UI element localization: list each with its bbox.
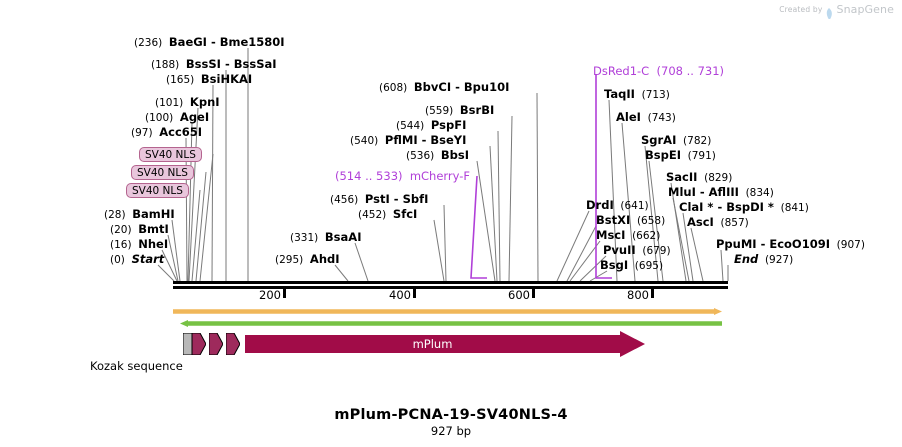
enzyme-name-alt: BseYI — [430, 133, 466, 147]
enzyme-name: BmtI — [138, 222, 169, 236]
enzyme-position: (544) — [396, 120, 431, 132]
enzyme-name-alt: BspDI * — [726, 200, 774, 214]
enzyme-name-separator: - — [390, 192, 403, 206]
kozak-sequence-label: Kozak sequence — [90, 359, 183, 373]
primer-label[interactable]: DsRed1-C (708 .. 731) — [593, 65, 724, 77]
enzyme-name: Acc65I — [159, 125, 202, 139]
reverse-primer-arrow[interactable] — [180, 320, 722, 327]
sv40-nls-pill[interactable]: SV40 NLS — [126, 183, 189, 198]
enzyme-label[interactable]: (331) BsaAI — [290, 231, 361, 244]
enzyme-label[interactable]: (236) BaeGI - Bme1580I — [134, 36, 285, 49]
enzyme-label[interactable]: PvuII (679) — [603, 244, 671, 257]
enzyme-label[interactable]: (456) PstI - SbfI — [330, 193, 428, 206]
enzyme-position: (841) — [774, 202, 809, 214]
enzyme-name-separator: - — [696, 185, 709, 199]
enzyme-name: AgeI — [180, 110, 209, 124]
enzyme-label[interactable]: BsgI (695) — [600, 259, 663, 272]
enzyme-label[interactable]: SacII (829) — [666, 171, 732, 184]
enzyme-position: (713) — [635, 89, 670, 101]
enzyme-position: (16) — [110, 239, 138, 251]
enzyme-name: Start — [132, 252, 165, 266]
forward-primer-arrow[interactable] — [173, 308, 722, 315]
enzyme-label[interactable]: (536) BbsI — [406, 149, 469, 162]
enzyme-name-alt: AflIII — [709, 185, 739, 199]
primer-range: (708 .. 731) — [657, 64, 725, 78]
enzyme-position: (857) — [714, 217, 749, 229]
ruler-tick-label: 800 — [627, 288, 651, 302]
enzyme-name: KpnI — [190, 95, 220, 109]
enzyme-label[interactable]: TaqII (713) — [604, 88, 670, 101]
ruler-tick-label: 200 — [259, 288, 283, 302]
enzyme-label[interactable]: (188) BssSI - BssSaI — [151, 58, 277, 71]
kozak-sequence-feature[interactable] — [183, 333, 192, 355]
enzyme-name-alt: Bme1580I — [220, 35, 285, 49]
enzyme-position: (101) — [155, 97, 190, 109]
enzyme-name-separator: - — [221, 57, 234, 71]
enzyme-label[interactable]: MluI - AflIII (834) — [668, 186, 774, 199]
enzyme-label[interactable]: End (927) — [734, 253, 793, 266]
enzyme-position: (97) — [131, 127, 159, 139]
sv40-nls-feature-3[interactable] — [226, 333, 240, 355]
enzyme-label[interactable]: (20) BmtI — [110, 223, 169, 236]
enzyme-name: BaeGI — [169, 35, 207, 49]
enzyme-name: BstXI — [596, 213, 630, 227]
enzyme-name: BbvCI — [414, 80, 451, 94]
enzyme-position: (559) — [425, 105, 460, 117]
enzyme-label[interactable]: PpuMI - EcoO109I (907) — [716, 238, 865, 251]
enzyme-position: (695) — [628, 260, 663, 272]
enzyme-label[interactable]: (544) PspFI — [396, 119, 466, 132]
enzyme-name: PvuII — [603, 243, 636, 257]
page-title: mPlum-PCNA-19-SV40NLS-4 — [0, 407, 902, 423]
enzyme-position: (452) — [358, 209, 393, 221]
mplum-cds-label: mPlum — [245, 331, 620, 357]
enzyme-label[interactable]: (608) BbvCI - Bpu10I — [379, 81, 509, 94]
enzyme-name: BamHI — [132, 207, 174, 221]
enzyme-name: BbsI — [441, 148, 469, 162]
enzyme-name: BsrBI — [460, 103, 494, 117]
enzyme-label[interactable]: (0) Start — [110, 253, 164, 266]
enzyme-position: (540) — [350, 135, 385, 147]
enzyme-position: (295) — [275, 254, 310, 266]
plasmid-length: 927 bp — [0, 424, 902, 438]
enzyme-name: AhdI — [310, 252, 340, 266]
sv40-nls-feature-2[interactable] — [209, 333, 223, 355]
enzyme-label[interactable]: (100) AgeI — [145, 111, 209, 124]
enzyme-name: TaqII — [604, 87, 635, 101]
enzyme-position: (782) — [676, 135, 711, 147]
primer-label[interactable]: (514 .. 533) mCherry-F — [335, 170, 470, 182]
enzyme-name: AleI — [616, 110, 641, 124]
enzyme-label[interactable]: (165) BsiHKAI — [166, 73, 252, 86]
enzyme-name: MscI — [596, 228, 625, 242]
enzyme-position: (743) — [641, 112, 676, 124]
enzyme-label[interactable]: MscI (662) — [596, 229, 660, 242]
enzyme-name: BspEI — [645, 148, 681, 162]
enzyme-label[interactable]: (295) AhdI — [275, 253, 340, 266]
enzyme-name: PflMI — [385, 133, 418, 147]
sv40-nls-feature-1[interactable] — [192, 333, 206, 355]
ruler-tick — [651, 289, 654, 298]
enzyme-position: (236) — [134, 37, 169, 49]
ruler-tick — [283, 289, 286, 298]
enzyme-label[interactable]: SgrAI (782) — [641, 134, 711, 147]
enzyme-label[interactable]: (97) Acc65I — [131, 126, 202, 139]
enzyme-name: ClaI * — [679, 200, 713, 214]
plasmid-map-canvas: Created by SnapGene — [0, 0, 902, 447]
enzyme-position: (536) — [406, 150, 441, 162]
enzyme-position: (907) — [830, 239, 865, 251]
enzyme-position: (188) — [151, 59, 186, 71]
enzyme-name-separator: - — [418, 133, 431, 147]
enzyme-position: (658) — [630, 215, 665, 227]
enzyme-position: (331) — [290, 232, 325, 244]
enzyme-name: BssSI — [186, 57, 221, 71]
enzyme-position: (641) — [614, 200, 649, 212]
enzyme-position: (927) — [758, 254, 793, 266]
enzyme-position: (791) — [681, 150, 716, 162]
enzyme-name-alt: SbfI — [403, 192, 429, 206]
ruler-tick-label: 600 — [508, 288, 532, 302]
enzyme-name-separator: - — [757, 237, 770, 251]
enzyme-name-separator: - — [207, 35, 220, 49]
enzyme-label[interactable]: DrdI (641) — [586, 199, 649, 212]
enzyme-label[interactable]: (559) BsrBI — [425, 104, 494, 117]
enzyme-label[interactable]: AscI (857) — [687, 216, 749, 229]
sv40-nls-pill[interactable]: SV40 NLS — [139, 147, 202, 162]
enzyme-position: (829) — [697, 172, 732, 184]
enzyme-label[interactable]: BstXI (658) — [596, 214, 665, 227]
enzyme-label[interactable]: ClaI * - BspDI * (841) — [679, 201, 809, 214]
enzyme-label[interactable]: (16) NheI — [110, 238, 168, 251]
enzyme-name-alt: Bpu10I — [464, 80, 509, 94]
enzyme-name-separator: - — [451, 80, 464, 94]
enzyme-name: BsgI — [600, 258, 628, 272]
primer-name: mCherry-F — [410, 169, 470, 183]
enzyme-position: (0) — [110, 254, 132, 266]
enzyme-name-alt: EcoO109I — [769, 237, 830, 251]
enzyme-name: AscI — [687, 215, 714, 229]
enzyme-name: PpuMI — [716, 237, 757, 251]
enzyme-name: PspFI — [431, 118, 466, 132]
enzyme-name: SfcI — [393, 207, 417, 221]
enzyme-label[interactable]: (452) SfcI — [358, 208, 417, 221]
enzyme-name-alt: BssSaI — [234, 57, 277, 71]
enzyme-name-separator: - — [713, 200, 726, 214]
enzyme-position: (100) — [145, 112, 180, 124]
enzyme-name: MluI — [668, 185, 696, 199]
enzyme-name: BsiHKAI — [201, 72, 252, 86]
primer-range: (514 .. 533) — [335, 169, 410, 183]
primer-name: DsRed1-C — [593, 64, 657, 78]
enzyme-position: (28) — [104, 209, 132, 221]
enzyme-name: NheI — [138, 237, 168, 251]
enzyme-name: SgrAI — [641, 133, 676, 147]
enzyme-name: PstI — [365, 192, 390, 206]
enzyme-position: (456) — [330, 194, 365, 206]
enzyme-position: (679) — [636, 245, 671, 257]
sv40-nls-pill[interactable]: SV40 NLS — [131, 165, 194, 180]
enzyme-position: (20) — [110, 224, 138, 236]
ruler-tick — [532, 289, 535, 298]
ruler-tick — [413, 289, 416, 298]
enzyme-position: (165) — [166, 74, 201, 86]
enzyme-label[interactable]: (101) KpnI — [155, 96, 220, 109]
enzyme-position: (834) — [739, 187, 774, 199]
enzyme-name: SacII — [666, 170, 697, 184]
enzyme-position: (608) — [379, 82, 414, 94]
enzyme-name: BsaAI — [325, 230, 362, 244]
ruler-tick-label: 400 — [389, 288, 413, 302]
enzyme-label[interactable]: BspEI (791) — [645, 149, 716, 162]
enzyme-label[interactable]: (28) BamHI — [104, 208, 175, 221]
enzyme-position: (662) — [625, 230, 660, 242]
enzyme-name: End — [734, 252, 758, 266]
ruler-bar-top — [173, 281, 728, 284]
enzyme-label[interactable]: AleI (743) — [616, 111, 676, 124]
enzyme-name: DrdI — [586, 198, 614, 212]
enzyme-label[interactable]: (540) PflMI - BseYI — [350, 134, 466, 147]
